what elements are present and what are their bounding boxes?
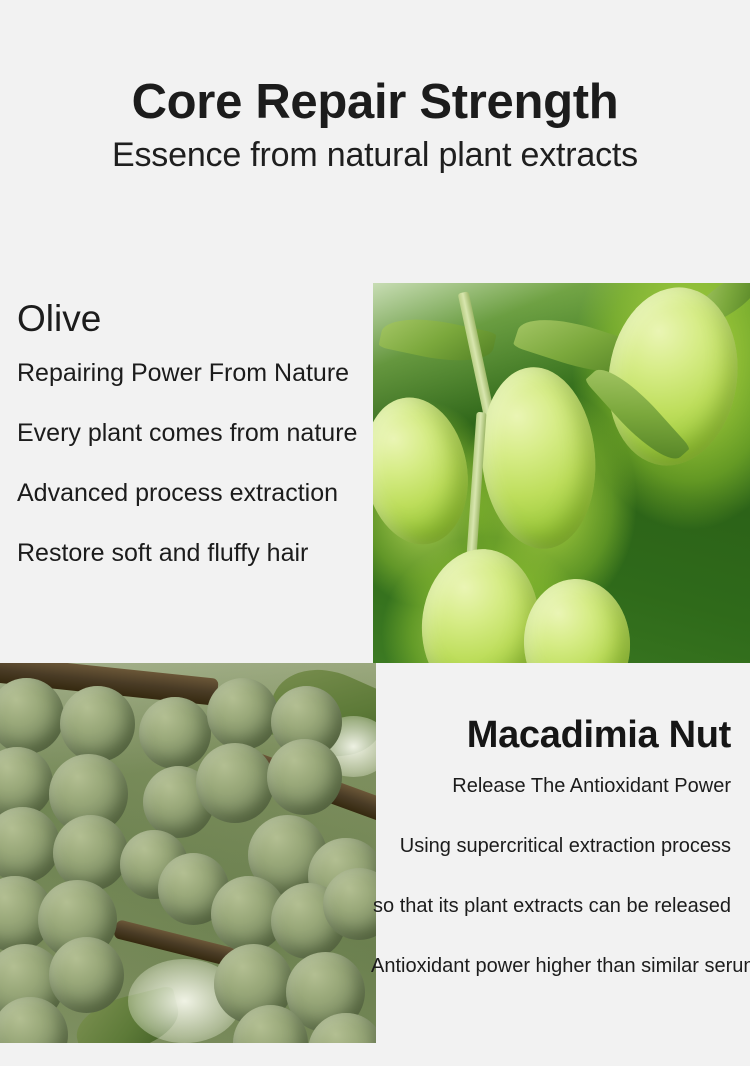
stem-shape <box>465 412 486 572</box>
nut-shape <box>207 678 278 750</box>
olive-benefit-line: Every plant comes from nature <box>17 421 367 446</box>
olive-heading: Olive <box>17 300 367 337</box>
nut-shape <box>49 937 124 1013</box>
page-title: Core Repair Strength <box>0 78 750 127</box>
olive-fruit-shape <box>520 577 632 663</box>
olive-text-block: Olive Repairing Power From Nature Every … <box>17 300 367 566</box>
macadamia-benefit-line: so that its plant extracts can be releas… <box>371 896 731 916</box>
macadamia-benefit-line: Release The Antioxidant Power <box>371 776 731 796</box>
nut-shape <box>196 743 275 823</box>
macadamia-heading: Macadimia Nut <box>371 716 731 754</box>
nut-shape <box>0 678 64 754</box>
header-section: Core Repair Strength Essence from natura… <box>0 0 750 283</box>
olive-fruit-shape <box>373 389 479 553</box>
nut-shape <box>139 697 210 769</box>
olive-fruit-photo <box>373 283 750 663</box>
nut-shape <box>53 815 128 891</box>
nut-shape <box>267 739 342 815</box>
olive-benefit-line: Repairing Power From Nature <box>17 361 367 386</box>
macadamia-nut-photo <box>0 663 376 1043</box>
macadamia-benefit-line: Antioxidant power higher than similar se… <box>371 956 731 976</box>
promo-page: Core Repair Strength Essence from natura… <box>0 0 750 1066</box>
olive-benefit-line: Restore soft and fluffy hair <box>17 541 367 566</box>
macadamia-text-block: Macadimia Nut Release The Antioxidant Po… <box>371 716 731 976</box>
macadamia-benefit-line: Using supercritical extraction process <box>371 836 731 856</box>
nut-shape <box>0 807 60 883</box>
olive-benefit-line: Advanced process extraction <box>17 481 367 506</box>
olive-fruit-shape <box>475 362 604 554</box>
nut-shape <box>60 686 135 762</box>
page-subtitle: Essence from natural plant extracts <box>0 138 750 172</box>
